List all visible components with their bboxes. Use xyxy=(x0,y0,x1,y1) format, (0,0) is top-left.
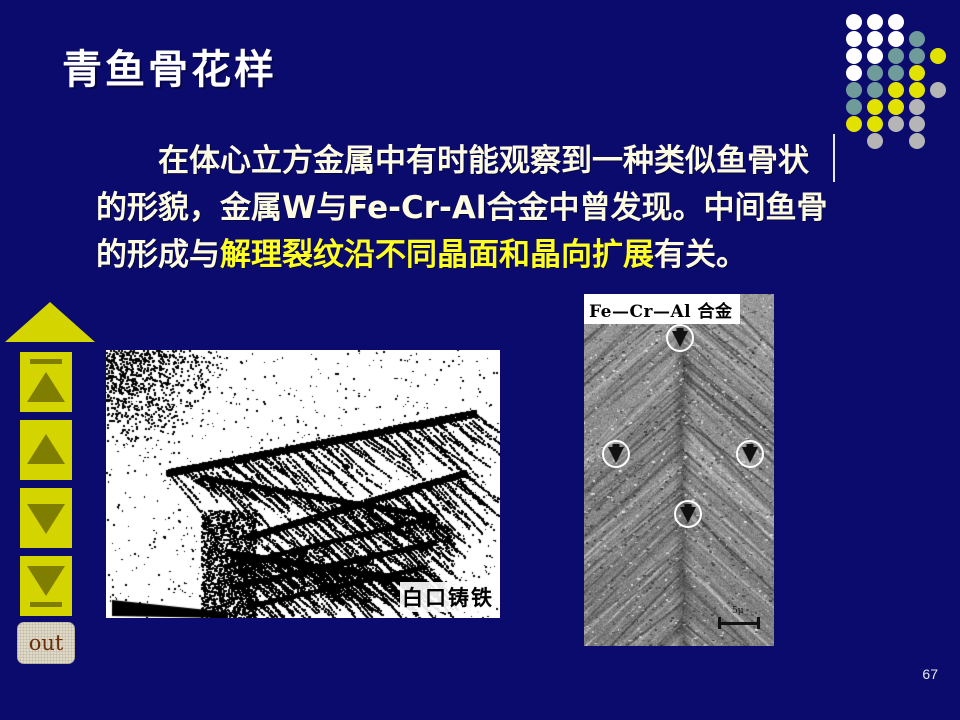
decor-dot xyxy=(867,82,883,98)
decor-dot xyxy=(909,65,925,81)
body-text-segment-2: 有关。 xyxy=(654,237,747,273)
decor-dot xyxy=(867,99,883,115)
triangle-up-icon xyxy=(27,434,65,464)
home-arrow-icon[interactable] xyxy=(5,302,95,342)
decor-dot xyxy=(846,99,862,115)
decor-dot xyxy=(909,133,925,149)
decor-dot xyxy=(846,116,862,132)
arrow-down-icon xyxy=(666,324,694,352)
decor-dot xyxy=(846,82,862,98)
decor-dot xyxy=(867,14,883,30)
scale-cap-right xyxy=(757,617,760,629)
decor-dot xyxy=(909,116,925,132)
bar-icon xyxy=(30,359,62,364)
next-slide-button[interactable] xyxy=(20,488,72,548)
out-button[interactable]: out xyxy=(17,622,75,664)
decor-dot xyxy=(909,99,925,115)
previous-slide-button[interactable] xyxy=(20,420,72,480)
decor-dot xyxy=(867,116,883,132)
arrow-head xyxy=(672,331,688,347)
white-cast-iron-micrograph: 白口铸铁 xyxy=(106,350,500,618)
arrow-down-icon xyxy=(674,500,702,528)
bar-icon xyxy=(30,602,62,607)
decor-dot xyxy=(909,48,925,64)
decor-dot xyxy=(888,48,904,64)
triangle-down-icon xyxy=(27,504,65,534)
text-divider-line xyxy=(833,134,835,182)
scale-bar: 5μ xyxy=(718,616,766,630)
arrow-head xyxy=(680,507,696,523)
arrow-head xyxy=(608,447,624,463)
decor-dot xyxy=(846,31,862,47)
decorative-dot-grid xyxy=(846,14,958,146)
decor-dot xyxy=(888,14,904,30)
first-slide-button[interactable] xyxy=(20,352,72,412)
decor-dot xyxy=(867,133,883,149)
decor-dot xyxy=(846,14,862,30)
body-text-segment-1: 解理裂纹沿不同晶面和晶向扩展 xyxy=(220,237,654,273)
decor-dot xyxy=(909,31,925,47)
last-slide-button[interactable] xyxy=(20,556,72,616)
decor-dot xyxy=(867,31,883,47)
decor-dot xyxy=(867,48,883,64)
arrow-down-icon xyxy=(736,440,764,468)
micrograph-image xyxy=(106,350,500,618)
decor-dot xyxy=(888,116,904,132)
decor-dot xyxy=(846,48,862,64)
decor-dot xyxy=(888,65,904,81)
decor-dot xyxy=(909,82,925,98)
triangle-up-icon xyxy=(27,372,65,402)
figure-left-label: 白口铸铁 xyxy=(400,582,496,612)
fe-cr-al-alloy-micrograph: Fe—Cr—Al 合金 5μ xyxy=(584,294,774,646)
figure-right-label: Fe—Cr—Al 合金 xyxy=(584,294,740,324)
decor-dot xyxy=(888,82,904,98)
decor-dot xyxy=(867,65,883,81)
decor-dot xyxy=(888,99,904,115)
decor-dot xyxy=(930,82,946,98)
page-title: 青鱼骨花样 xyxy=(62,48,277,92)
scale-bar-label: 5μ xyxy=(732,606,744,616)
navigation-rail: out xyxy=(0,292,104,662)
arrow-head xyxy=(742,447,758,463)
body-paragraph: 在体心立方金属中有时能观察到一种类似鱼骨状的形貌，金属W与Fe-Cr-Al合金中… xyxy=(96,138,836,279)
decor-dot xyxy=(846,65,862,81)
page-number: 67 xyxy=(922,666,938,682)
decor-dot xyxy=(930,48,946,64)
decor-dot xyxy=(888,31,904,47)
scale-line xyxy=(718,622,760,625)
slide-canvas: 青鱼骨花样 在体心立方金属中有时能观察到一种类似鱼骨状的形貌，金属W与Fe-Cr… xyxy=(0,0,960,720)
arrow-down-icon xyxy=(602,440,630,468)
triangle-down-icon xyxy=(27,566,65,596)
